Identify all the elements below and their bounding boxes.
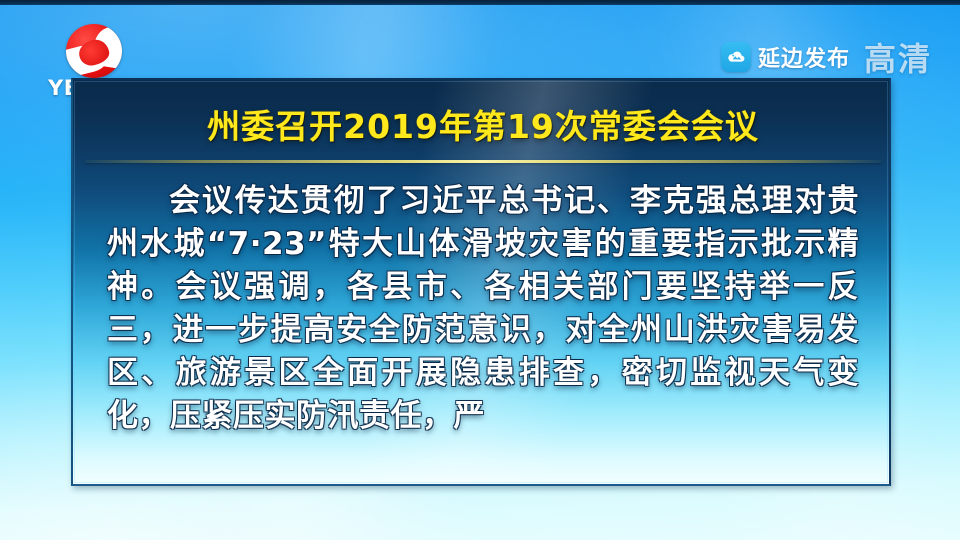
news-body-text: 会议传达贯彻了习近平总书记、李克强总理对贵州水城“7·23”特大山体滑坡灾害的重… [107, 180, 859, 438]
news-caption-panel: 州委召开2019年第19次常委会会议 会议传达贯彻了习近平总书记、李克强总理对贵… [71, 78, 891, 486]
top-letterbox-strip [0, 0, 960, 5]
cloud-mountain-icon [721, 42, 751, 72]
publisher-brand: 延边发布 [721, 41, 850, 73]
hd-quality-tag: 高清 [864, 34, 932, 80]
headline-divider [85, 160, 881, 163]
ybtv-logo-icon [66, 24, 122, 78]
brand-row: 延边发布 高清 [721, 34, 932, 80]
broadcast-screen: YBTV-1 延边发布 高清 州委召开2019年第19次常委会会议 会议传达贯彻… [0, 0, 960, 540]
news-headline: 州委召开2019年第19次常委会会议 [73, 100, 891, 148]
publisher-brand-label: 延边发布 [758, 41, 850, 73]
